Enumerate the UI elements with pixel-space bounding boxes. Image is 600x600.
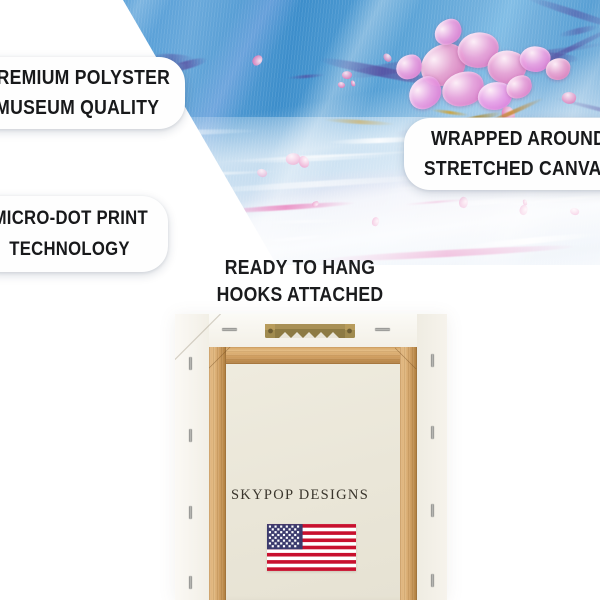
callout-premium-polyster: PREMIUM POLYSTER MUSEUM QUALITY [0,57,185,129]
miter-joint-top-left [209,347,231,369]
callout-premium-line1: PREMIUM POLYSTER [0,63,170,93]
staple [431,354,434,367]
staple [375,328,390,331]
product-image-stage: PREMIUM POLYSTER MUSEUM QUALITY WRAPPED … [0,0,600,600]
miter-joint-top-right [395,347,417,369]
ready-to-hang-line2: HOOKS ATTACHED [36,282,564,309]
staple [189,506,192,519]
staple [431,504,434,517]
staple [189,357,192,370]
callout-wrapped-around: WRAPPED AROUND STRETCHED CANVAS [404,118,600,190]
ready-to-hang-text: READY TO HANG HOOKS ATTACHED [0,255,600,309]
callout-premium-line2: MUSEUM QUALITY [0,93,160,123]
stretcher-bar-left [209,347,226,600]
sawtooth-hanger-icon [265,323,355,339]
brand-name: SKYPOP DESIGNS [0,487,600,504]
callout-wrapped-line2: STRETCHED CANVAS [424,154,600,184]
staple [431,426,434,439]
us-flag-icon [267,524,356,571]
staple [189,576,192,589]
staple [222,328,237,331]
staple [431,574,434,587]
staple [189,429,192,442]
callout-micro-line1: MICRO-DOT PRINT [0,203,148,234]
stretcher-bar-top [209,347,417,364]
callout-wrapped-line1: WRAPPED AROUND [431,124,600,154]
stretcher-bar-right [400,347,417,600]
ready-to-hang-line1: READY TO HANG [36,255,564,282]
